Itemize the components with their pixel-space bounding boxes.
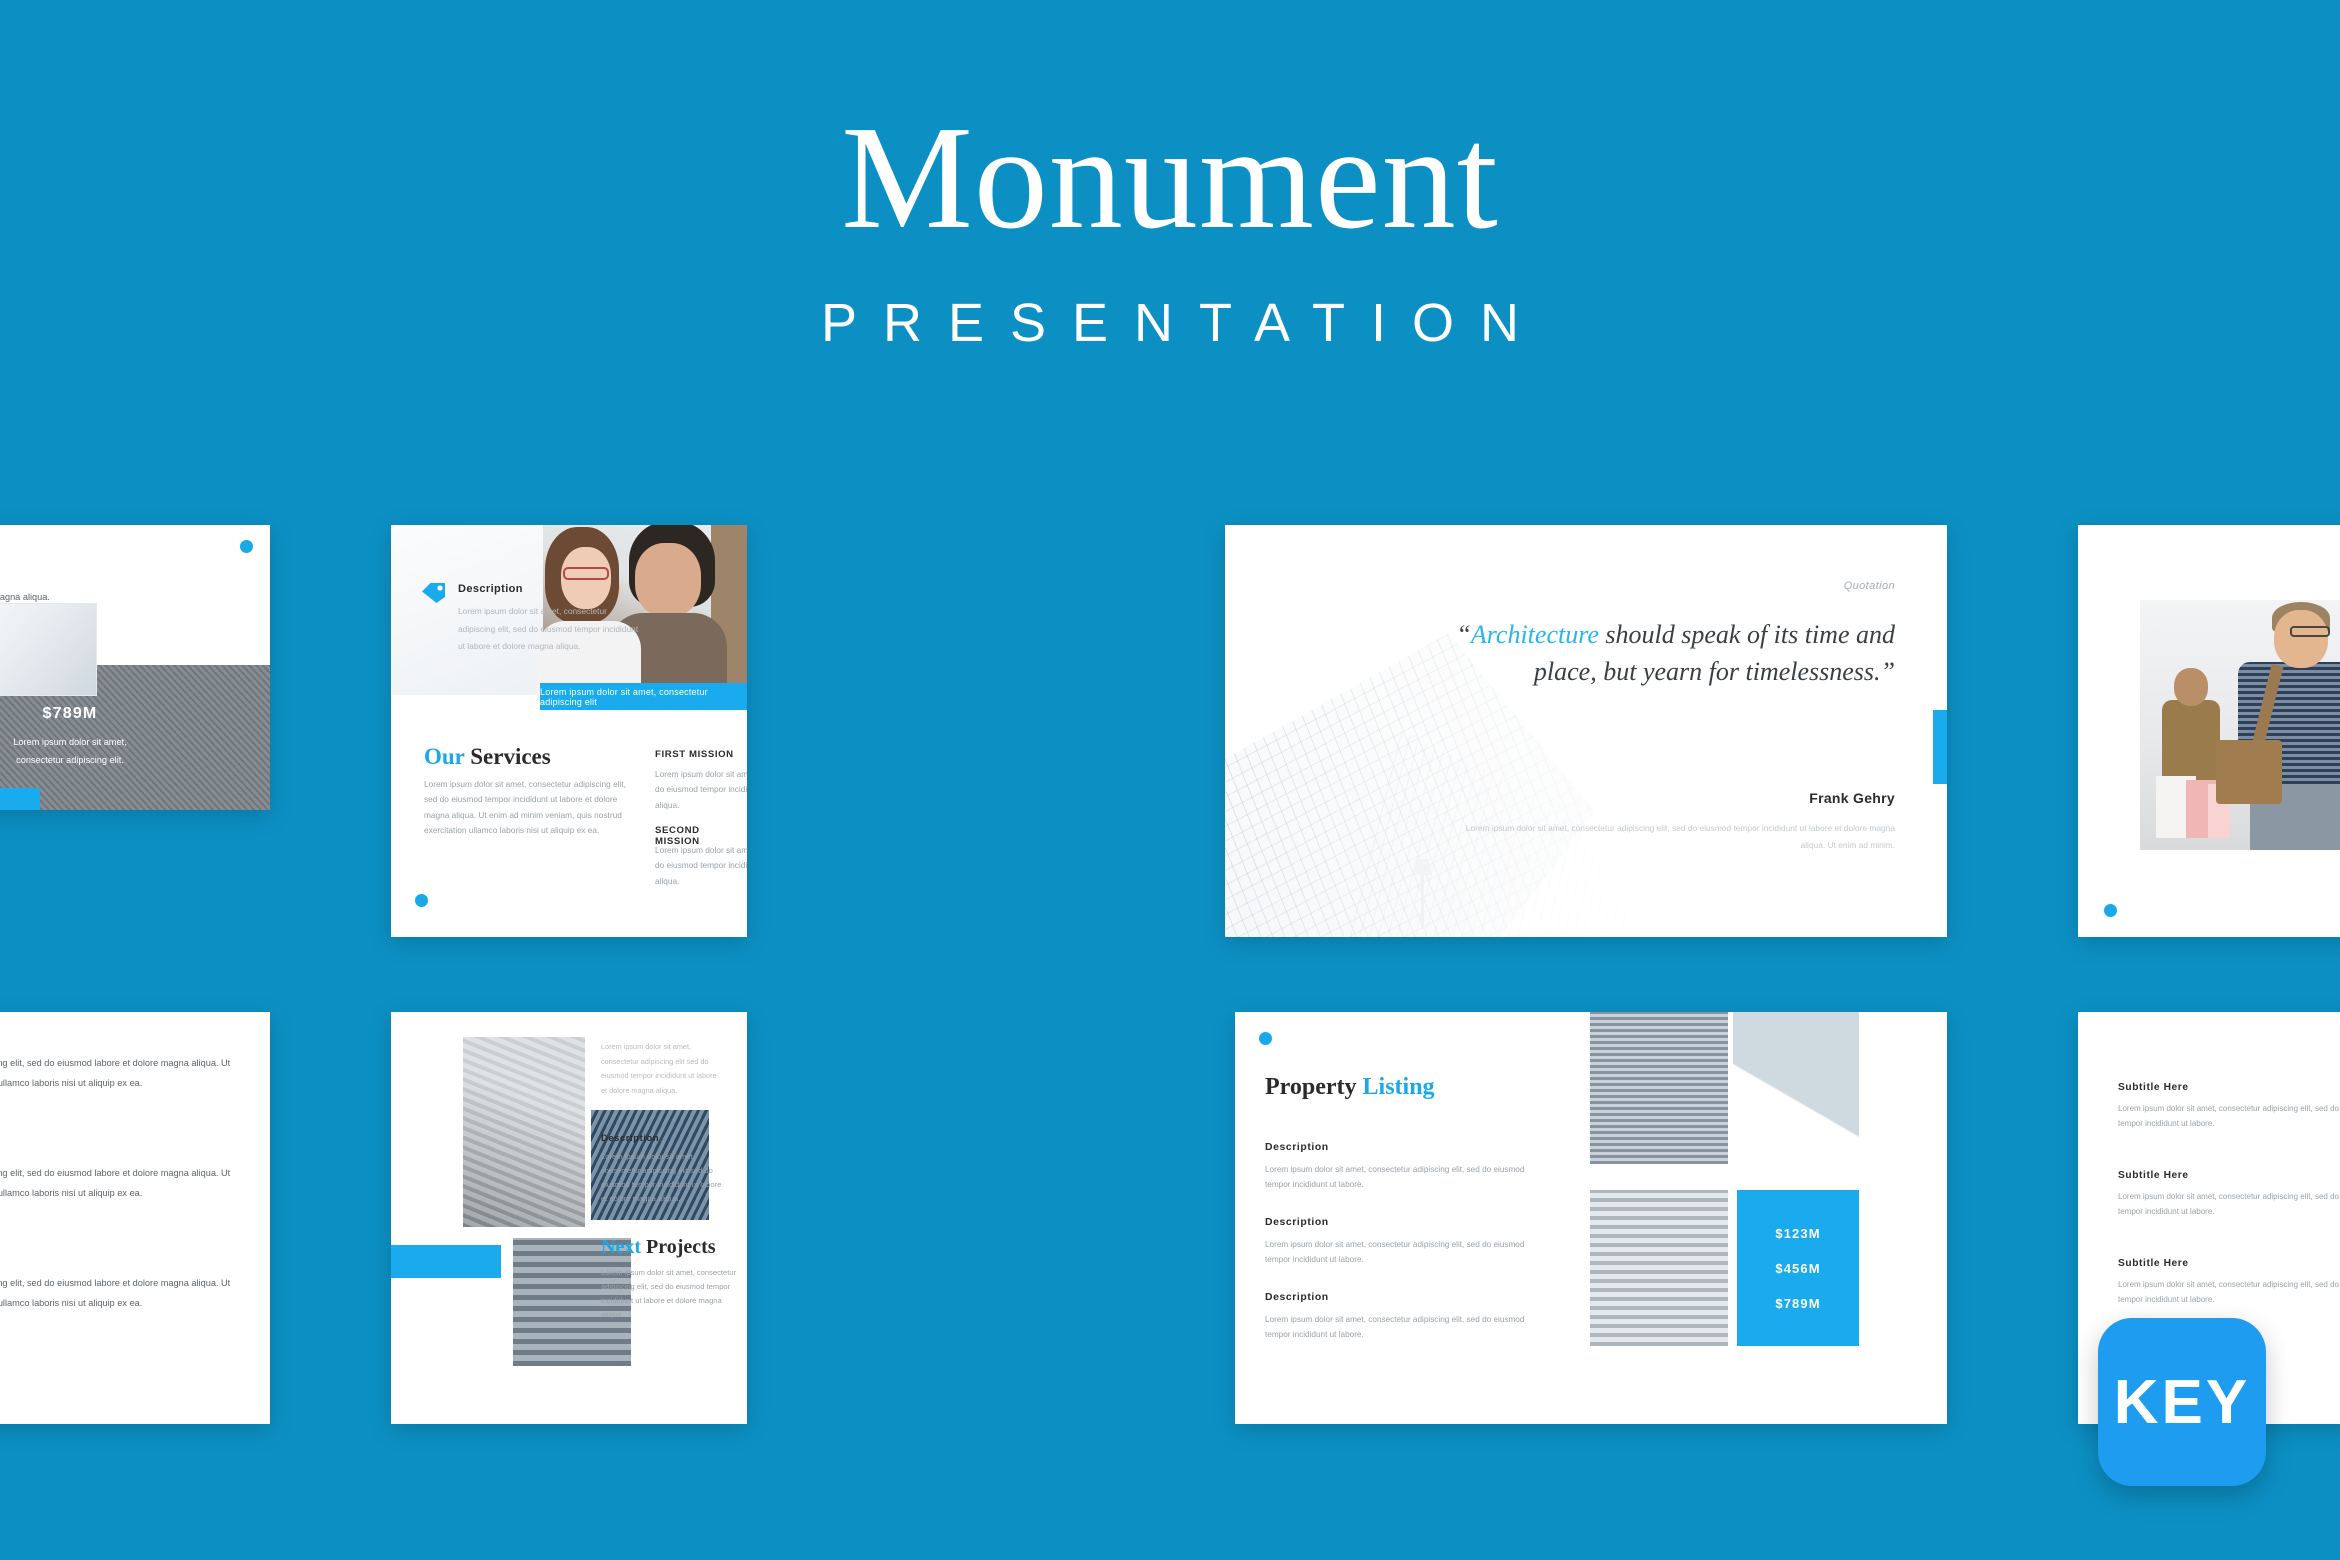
pricing-building-image bbox=[0, 603, 97, 696]
photo-white-overlay bbox=[1225, 525, 1947, 937]
next-projects-description-heading: Description bbox=[601, 1132, 659, 1143]
subtitle-heading: Subtitle Here bbox=[2118, 1082, 2189, 1093]
page-subtitle: PRESENTATION bbox=[795, 292, 1545, 354]
subtitle-heading: Subtitle Here bbox=[2118, 1258, 2189, 1269]
services-title-rest: Services bbox=[464, 744, 550, 769]
quotation-text: “Architecture should speak of its time a… bbox=[1435, 617, 1895, 691]
subtitle-body: Lorem ipsum dolor sit amet, consectetur … bbox=[2118, 1278, 2340, 1308]
next-projects-intro: Lorem ipsum dolor sit amet, consectetur … bbox=[601, 1266, 741, 1322]
pricing-amount: $789M bbox=[0, 705, 270, 723]
text-block-2: t amet, consectetur adipiscing elit, sed… bbox=[0, 1164, 242, 1204]
quotation-body: Lorem ipsum dolor sit amet, consectetur … bbox=[1465, 820, 1895, 854]
next-projects-title: Next Projects bbox=[601, 1236, 716, 1259]
slide-dot-icon bbox=[415, 894, 428, 907]
photo-main-person-head bbox=[2274, 610, 2328, 668]
property-listing-title: Property Listing bbox=[1265, 1074, 1435, 1101]
photo-second-person-head bbox=[2174, 668, 2208, 706]
messenger-bag-icon bbox=[2216, 740, 2282, 804]
slide-thumbnail-text-columns[interactable]: t amet, consectetur adipiscing elit, sed… bbox=[0, 1012, 270, 1424]
shopper-photo bbox=[2140, 600, 2340, 850]
glasses-icon bbox=[563, 567, 609, 580]
accent-tab bbox=[1933, 710, 1947, 784]
property-listing-title-accent: Listing bbox=[1363, 1074, 1435, 1100]
property-item-heading: Description bbox=[1265, 1217, 1329, 1228]
slide-dot-icon bbox=[240, 540, 253, 553]
property-image-2 bbox=[1733, 1012, 1859, 1164]
quotation-author: Frank Gehry bbox=[1809, 790, 1895, 806]
quotation-label: Quotation bbox=[1844, 580, 1895, 592]
services-description-body: Lorem ipsum dolor sit amet, consectetur … bbox=[458, 603, 644, 656]
slide-dot-icon bbox=[2104, 904, 2117, 917]
property-price: $456M bbox=[1775, 1261, 1820, 1276]
subtitle-heading: Subtitle Here bbox=[2118, 1170, 2189, 1181]
services-intro: Lorem ipsum dolor sit amet, consectetur … bbox=[424, 777, 629, 838]
subtitle-body: Lorem ipsum dolor sit amet, consectetur … bbox=[2118, 1102, 2340, 1132]
services-description-heading: Description bbox=[458, 583, 523, 595]
text-block-3: t amet, consectetur adipiscing elit, sed… bbox=[0, 1274, 242, 1314]
next-projects-top-body: Lorem ipsum dolor sit amet, consectetur … bbox=[601, 1040, 721, 1098]
slide-thumbnail-next-projects[interactable]: Lorem ipsum dolor sit amet, consectetur … bbox=[391, 1012, 747, 1424]
subtitle-body: Lorem ipsum dolor sit amet, consectetur … bbox=[2118, 1190, 2340, 1220]
property-price: $123M bbox=[1775, 1226, 1820, 1241]
hero-section: Monument PRESENTATION bbox=[0, 0, 2340, 500]
property-listing-title-rest: Property bbox=[1265, 1074, 1363, 1100]
pricing-caption: Lorem ipsum dolor sit amet, consectetur … bbox=[0, 733, 210, 770]
first-mission-heading: FIRST MISSION bbox=[655, 749, 734, 760]
property-item-heading: Description bbox=[1265, 1292, 1329, 1303]
accent-bar bbox=[391, 1245, 501, 1278]
slide-thumbnail-pricing[interactable]: didunt ut labore et dolore magna aliqua.… bbox=[0, 525, 270, 810]
tag-icon bbox=[421, 582, 447, 604]
photo-person-b-face bbox=[635, 543, 701, 617]
property-item-heading: Description bbox=[1265, 1142, 1329, 1153]
property-item-body: Lorem ipsum dolor sit amet, consectetur … bbox=[1265, 1162, 1551, 1192]
glasses-icon bbox=[2290, 626, 2330, 637]
property-price: $789M bbox=[1775, 1296, 1820, 1311]
first-mission-body: Lorem ipsum dolor sit amet, consectetur … bbox=[655, 767, 747, 813]
project-image-1 bbox=[463, 1037, 585, 1227]
quotation-accent-word: Architecture bbox=[1471, 620, 1599, 649]
keynote-badge-label: KEY bbox=[2114, 1367, 2250, 1438]
property-price-list: $123M $456M $789M bbox=[1737, 1190, 1859, 1346]
slide-thumbnail-our-services[interactable]: Description Lorem ipsum dolor sit amet, … bbox=[391, 525, 747, 937]
slide-thumbnail-photo[interactable] bbox=[2078, 525, 2340, 937]
page-title: Monument bbox=[841, 104, 1499, 252]
next-projects-title-accent: Next bbox=[601, 1236, 641, 1258]
next-projects-description-body: Lorem ipsum dolor sit amet, consectetur … bbox=[601, 1150, 729, 1206]
quote-open-mark: “ bbox=[1456, 620, 1470, 649]
text-block-1: t amet, consectetur adipiscing elit, sed… bbox=[0, 1054, 242, 1094]
services-title: Our Services bbox=[424, 744, 551, 770]
slide-thumbnail-property-listing[interactable]: Property Listing Description Lorem ipsum… bbox=[1235, 1012, 1947, 1424]
next-projects-title-rest: Projects bbox=[641, 1236, 716, 1258]
accent-bar bbox=[0, 788, 40, 810]
property-item-body: Lorem ipsum dolor sit amet, consectetur … bbox=[1265, 1312, 1551, 1342]
services-title-accent: Our bbox=[424, 744, 464, 769]
property-item-body: Lorem ipsum dolor sit amet, consectetur … bbox=[1265, 1237, 1551, 1267]
second-mission-body: Lorem ipsum dolor sit amet, consectetur … bbox=[655, 843, 747, 889]
keynote-format-badge: KEY bbox=[2098, 1318, 2266, 1486]
slide-dot-icon bbox=[1259, 1032, 1272, 1045]
property-image-1 bbox=[1590, 1012, 1728, 1164]
slide-thumbnail-quotation[interactable]: Quotation “Architecture should speak of … bbox=[1225, 525, 1947, 937]
property-image-3 bbox=[1590, 1190, 1728, 1346]
services-banner: Lorem ipsum dolor sit amet, consectetur … bbox=[540, 683, 747, 710]
presentation-preview-canvas: Monument PRESENTATION didunt ut labore e… bbox=[0, 0, 2340, 1560]
